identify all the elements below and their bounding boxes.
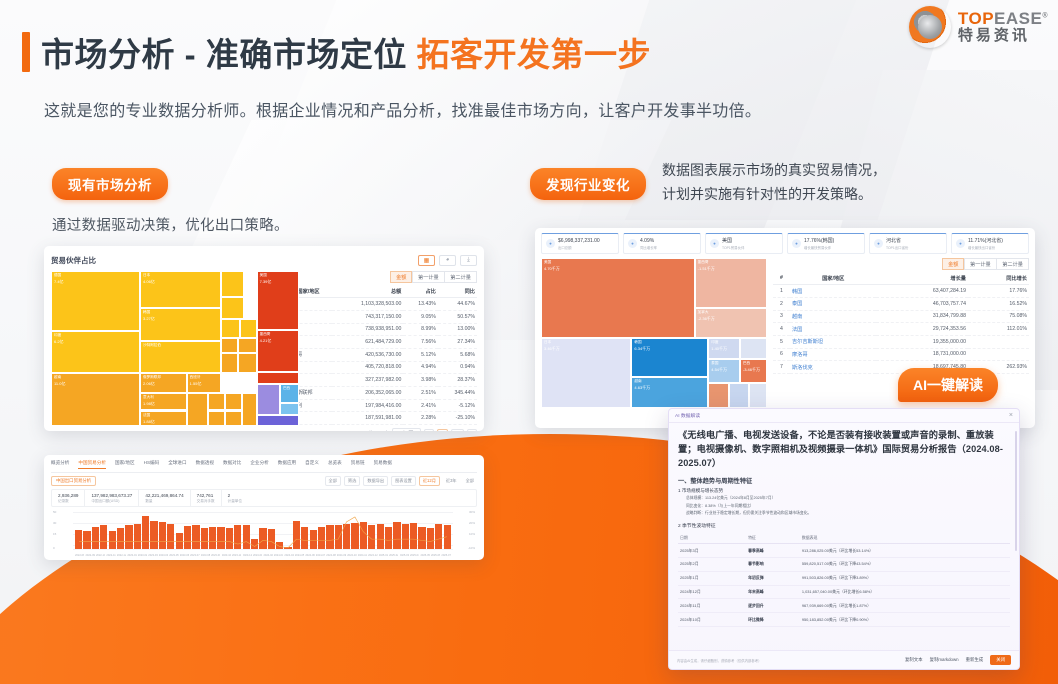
treemap-cell-label: 越南 [634,379,641,384]
treemap-cell-value: 7.4亿 [54,279,64,285]
treemap-cell[interactable] [238,353,257,373]
row-total: 738,938,951.00 [332,323,403,336]
row-yoy: -25.10% [438,412,477,425]
report-section-1: 一、整体趋势与周期性特征 [678,476,1010,485]
panel-b-tab[interactable]: 数据应用 [278,460,296,469]
measure-tab[interactable]: 第二计量 [996,258,1029,270]
report-bullet: 同比变化：8.38%（与上一年同期相比） [678,504,1010,510]
pill-industry-change: 发现行业变化 [530,168,646,200]
dialog-titlebar: AI 数据解读 × [669,409,1019,423]
row-index: 4 [773,323,790,336]
row-performance: 913,286,025.00美元（环比增长53.14%） [800,544,1010,558]
treemap-cell[interactable]: 日本4.06亿 [140,271,221,308]
x-tick-label: 2024-09 [337,554,346,557]
x-tick-label: 2023-09 [211,554,220,557]
report-subsection-1: 1 市场规模与增长态势 [678,488,1010,494]
row-index: 1 [773,285,790,298]
treemap-cell[interactable] [225,411,242,427]
treemap-cell[interactable] [740,338,767,359]
dialog-button[interactable]: 复制markdown [930,657,959,663]
panel-b-tab[interactable]: 全球进口 [168,460,186,469]
topease-ring-logo-icon [909,6,951,48]
x-tick-label: 2024-11 [358,554,367,557]
panel-c-measure-tabs[interactable]: 金额第一计量第二计量 [773,258,1029,270]
row-yoy: 13.00% [438,323,477,336]
headline-main: 市场分析 - 准确市场定位 [41,36,417,73]
treemap-cell[interactable]: 墨西哥-1.51千万 [695,258,767,308]
logo-registered: ® [1042,13,1048,20]
x-tick-label: 2023-06 [180,554,189,557]
table-row[interactable]: 5墨西哥420,536,730.005.12%5.68% [269,348,477,361]
x-tick-label: 2023-05 [169,554,178,557]
row-performance: 950,183,852.00美元（环比下降0.90%） [800,613,1010,627]
panel-b-tab[interactable]: 中国贸易分析 [78,460,106,469]
treemap-cell-label: 越南 [54,375,61,380]
panel-b-tab[interactable]: 贸易链 [351,460,365,469]
treemap-cell-value: 1.98亿 [143,401,155,407]
row-growth: 29,724,353.56 [876,323,968,336]
row-country[interactable]: 泰国 [790,297,877,310]
report-bullet: 战略判断：行业处于稳定增长期，但仍需关注季节性波动和区域市场变化。 [678,511,1010,517]
row-share: 7.56% [403,336,438,349]
row-index: 3 [773,310,790,323]
page-number[interactable]: 1 [437,429,448,431]
right-caption-desc: 数据图表展示市场的真实贸易情况， 计划并实施有针对性的开发策略。 [662,158,886,206]
x-tick-label: 2025-06 [431,554,440,557]
x-tick-label: 2024-10 [347,554,356,557]
title-accent-bar [22,32,30,72]
row-share: 3.98% [403,374,438,387]
headline-text: 市场分析 - 准确市场定位 拓客开发第一步 [41,28,651,76]
row-date: 2025年1月 [678,571,746,585]
page-size-select[interactable]: 10条/页 ▾ [392,428,421,431]
chart-icon: ● [956,239,965,248]
row-feature: 环比微降 [746,613,800,627]
row-total: 743,317,150.00 [332,310,403,323]
close-icon[interactable]: × [1009,412,1013,419]
treemap-cell[interactable] [257,415,299,426]
stat-card[interactable]: ●河北省TOP1出口省份 [869,233,947,254]
panel-b-tab[interactable]: 企业分析 [250,460,268,469]
treemap-cell[interactable]: 意大利1.98亿 [140,393,187,410]
row-index: 7 [773,361,790,374]
treemap-cell[interactable] [242,393,257,426]
treemap-cell[interactable]: 沙特阿拉伯 [140,341,221,374]
report-bullets: 总体规模：113.24亿美元（2024年8月至2025年7月）同比变化：8.38… [678,496,1010,517]
china-trade-analysis-panel[interactable]: 概览分析中国贸易分析国家/地区HS编码全球进口数据透视数据对比企业分析数据应用自… [44,455,484,560]
treemap-cell[interactable]: 俄罗斯联邦2.06亿 [140,373,187,393]
treemap-cell-label: 美国 [544,260,551,265]
x-tick-label: 2024-03 [274,554,283,557]
toolbar-action[interactable]: 全部 [463,477,477,485]
left-caption-desc: 通过数据驱动决策，优化出口策略。 [52,214,289,235]
row-feature: 年初反弹 [746,571,800,585]
table-row[interactable]: 5吉尔吉斯斯坦19,355,000.00 [773,335,1029,348]
treemap-cell[interactable] [187,393,208,426]
column-header: 同比增长 [968,272,1029,285]
growth-table: #国家/地区增长量同比增长 1韩国63,407,284.1917.76%2泰国4… [773,272,1029,374]
next-page-button[interactable]: › [467,429,477,431]
stat-card-text: 4.09%同比增长率 [640,238,657,250]
toolbar-action[interactable]: 筛选 [344,476,360,486]
report-section-2: 2 季节性波动特征 [678,522,1010,529]
treemap-cell-value: 4.70千万 [544,266,560,272]
x-tick-label: 2025-01 [379,554,388,557]
table-row: 2024年10月环比微降950,183,852.00美元（环比下降0.90%） [678,613,1010,627]
stat-value: 137,982,983,673.27 [91,493,132,498]
treemap-cell[interactable] [221,338,238,354]
table-row: 2025年3月春季高峰913,286,025.00美元（环比增长53.14%） [678,544,1010,558]
ai-data-interpretation-dialog[interactable]: AI 数据解读 × 《无线电广播、电视发送设备，不论是否装有接收装置或声音的录制… [668,408,1020,670]
row-total: 187,591,981.00 [332,412,403,425]
table-pagination[interactable]: 共 213 条10条/页 ▾‹122› [269,428,477,431]
treemap-cell[interactable]: 法国1.88亿 [140,411,187,427]
row-index: 2 [773,297,790,310]
stat-card[interactable]: ●11.71%(河北省)增长最快出口省份 [951,233,1029,254]
panel-b-tabs[interactable]: 概览分析中国贸易分析国家/地区HS编码全球进口数据透视数据对比企业分析数据应用自… [51,460,477,473]
chart-line-overlay [75,512,451,549]
row-yoy: 345.44% [438,387,477,400]
treemap-cell[interactable] [221,353,238,373]
row-country[interactable]: 摩洛哥 [790,348,877,361]
stat-card-value: 4.09% [640,238,657,244]
treemap-cell[interactable] [240,319,257,338]
row-total: 405,720,818.00 [332,361,403,374]
row-performance: 1,031,657,040.00美元（环比增长6.58%） [800,585,1010,599]
treemap-cell[interactable]: 印度1.40千万 [708,338,740,359]
treemap-cell-value: 3.46千万 [544,346,560,352]
treemap-cell[interactable]: 巴西 [280,384,299,403]
treemap-cell[interactable] [225,393,242,410]
x-tick-label: 2024-06 [305,554,314,557]
treemap-cell[interactable]: 越南4.63千万 [631,377,708,409]
stat-card-label: TOP1贸易伙伴 [722,245,744,250]
panel-b-tab[interactable]: 概览分析 [51,460,69,469]
column-header: 日期 [678,532,746,544]
stat-label: 记录数 [58,499,78,504]
row-growth: 46,703,757.74 [876,297,968,310]
treemap-cell-value: 4.63千万 [634,385,650,391]
row-yoy: 5.68% [438,348,477,361]
treemap-cell[interactable]: 德国7.4亿 [51,271,140,331]
table-row[interactable]: 8俄罗斯联邦206,352,065.002.51%345.44% [269,387,477,400]
dialog-button[interactable]: 重新生成 [966,657,984,663]
stat-label: 数量 [145,499,183,504]
x-tick-label: 2023-01 [127,554,136,557]
treemap-cell-value: 1.88亿 [143,419,155,425]
trade-partner-table: #国家/地区总额占比同比 1德国1,103,328,503.0013.43%44… [269,285,477,425]
panel-b-tab[interactable]: 贸易数据 [374,460,392,469]
left-caption-block: 现有市场分析 通过数据驱动决策，优化出口策略。 [52,168,289,235]
table-row[interactable]: 2泰国46,703,757.7416.52% [773,297,1029,310]
treemap-cell[interactable]: 加拿大-2.36千万 [695,308,767,338]
table-row: 2024年11月逐步回升967,939,669.00美元（环比增长1.87%） [678,599,1010,613]
report-heading: 《无线电广播、电视发送设备，不论是否装有接收装置或声音的录制、重放装置；电视摄像… [678,429,1010,471]
row-total: 621,484,729.00 [332,336,403,349]
row-performance: 991,503,826.00美元（环比下降3.89%） [800,571,1010,585]
stat-item: 137,982,983,673.27中国出口额(USD) [85,490,139,506]
stat-item: 42,221,469,864.74数量 [139,490,190,506]
row-yoy [968,348,1029,361]
row-share: 2.51% [403,387,438,400]
x-tick-label: 2023-04 [159,554,168,557]
treemap-cell[interactable] [749,383,767,409]
stat-card-value: 17.76%(韩国) [804,237,834,244]
row-share: 2.41% [403,399,438,412]
toolbar-action[interactable]: 全部 [325,476,341,486]
table-row[interactable]: 6日本405,720,818.004.94%0.94% [269,361,477,374]
row-share: 5.12% [403,348,438,361]
treemap-cell-label: 印度 [54,333,61,338]
row-growth: 63,407,284.19 [876,285,968,298]
treemap-cell-value: 7.39亿 [260,279,272,285]
headline-accent: 拓客开发第一步 [417,36,652,73]
row-country[interactable]: 韩国 [790,285,877,298]
treemap-cell[interactable]: 韩国3.27亿 [140,308,221,341]
treemap-growth[interactable]: 美国4.70千万墨西哥-1.51千万加拿大-2.36千万日本3.46千万韩国6.… [541,258,767,408]
trade-partner-share-panel[interactable]: 贸易伙伴占比 ▦ ◕ ⤓ 德国7.4亿印度6.2亿越南11.0亿日本4.06亿韩… [44,246,484,431]
seasonality-table: 日期特征数据表现 2025年3月春季高峰913,286,025.00美元（环比增… [678,532,1010,627]
x-tick-label: 2024-05 [295,554,304,557]
treemap-cell[interactable] [221,271,244,297]
x-tick-label: 2022-10 [96,554,105,557]
stat-card[interactable]: ●美国TOP1贸易伙伴 [705,233,783,254]
ai-interpret-badge[interactable]: AI一键解读 [898,368,998,402]
measure-tab[interactable]: 第一计量 [412,271,445,283]
row-performance: 559,820,517.00美元（环比下降43.54%） [800,557,1010,571]
stat-card-text: $6,998,337,231.00出口总额 [558,238,600,250]
panel-b-tab[interactable]: 数据对比 [223,460,241,469]
ai-disclaimer: 内容由AI生成，请仔细甄别，谨慎参考（仅供内部参考） [677,658,762,663]
panel-b-tab[interactable]: 数据透视 [196,460,214,469]
treemap-cell-value: -3.46千万 [743,367,760,373]
table-row[interactable]: 3越南31,834,799.8875.08% [773,310,1029,323]
table-row[interactable]: 7韩国327,237,982.003.98%28.37% [269,374,477,387]
table-header-row: #国家/地区总额占比同比 [269,285,477,298]
column-header: 同比 [438,285,477,298]
stat-card-text: 河北省TOP1出口省份 [886,237,908,250]
treemap-cell[interactable]: 美国7.39亿 [257,271,299,330]
stat-label: 中国出口额(USD) [91,499,132,504]
row-yoy: 44.67% [438,298,477,311]
x-tick-label: 2024-12 [368,554,377,557]
stat-item: 742,761交易对手数 [191,490,222,506]
row-feature: 春季高峰 [746,544,800,558]
treemap-cell-label: 意大利 [143,395,154,400]
panel-a-header: 贸易伙伴占比 ▦ ◕ ⤓ [51,252,477,268]
row-country[interactable]: 吉尔吉斯斯坦 [790,335,877,348]
treemap-cell[interactable]: 日本3.46千万 [541,338,631,409]
x-tick-label: 2023-12 [243,554,252,557]
toolbar-action[interactable]: 近3年 [443,477,460,485]
table-row[interactable]: 10法国187,591,981.002.28%-25.10% [269,412,477,425]
measure-tab[interactable]: 第二计量 [444,271,477,283]
row-share: 13.43% [403,298,438,311]
treemap-cell[interactable] [729,383,749,409]
row-feature: 逐步回升 [746,599,800,613]
x-tick-label: 2023-07 [190,554,199,557]
table-row: 2025年1月年初反弹991,503,826.00美元（环比下降3.89%） [678,571,1010,585]
row-index: 6 [773,348,790,361]
dialog-title: AI 数据解读 [675,412,700,419]
treemap-cell[interactable]: 越南11.0亿 [51,373,140,426]
table-row[interactable]: 4印度621,484,729.007.56%27.34% [269,336,477,349]
download-icon[interactable]: ⤓ [460,255,477,266]
row-date: 2024年11月 [678,599,746,613]
row-yoy: 17.76% [968,285,1029,298]
row-total: 206,352,065.00 [332,387,403,400]
row-date: 2024年12月 [678,585,746,599]
row-date: 2024年10月 [678,613,746,627]
list-icon: ● [710,239,719,248]
column-header: 特征 [746,532,800,544]
row-total: 197,984,416.00 [332,399,403,412]
column-header: # [773,272,790,285]
table-row[interactable]: 4法国29,724,353.56112.01% [773,323,1029,336]
last-page[interactable]: 22 [451,429,465,431]
monthly-trend-chart[interactable]: 5030 150 30%20% 10%-10% 2022-082022-0920… [51,510,477,557]
column-header: 国家/地区 [790,272,877,285]
x-tick-label: 2024-01 [253,554,262,557]
stat-item: 2,936,289记录数 [52,490,85,506]
x-tick-label: 2025-02 [389,554,398,557]
treemap-cell[interactable] [708,383,728,409]
stat-card-label: 增长最快贸易伙伴 [804,245,834,250]
panel-b-tab[interactable]: 国家/地区 [115,460,135,469]
panel-b-tab[interactable]: HS编码 [144,460,160,469]
dialog-buttons[interactable]: 复制文本复制markdown重新生成关闭 [905,655,1011,665]
dialog-scrollbar[interactable] [1015,431,1017,551]
stat-card-label: 增长最快出口省份 [968,245,1003,250]
panel-b-tab[interactable]: 自定义 [305,460,319,469]
dialog-body: 《无线电广播、电视发送设备，不论是否装有接收装置或声音的录制、重放装置；电视摄像… [669,423,1019,650]
treemap-cell-value: 1.55亿 [190,381,202,387]
row-feature: 年末高峰 [746,585,800,599]
stat-card-row: ●$6,998,337,231.00出口总额●4.09%同比增长率●美国TOP1… [541,233,1029,254]
row-country[interactable]: 法国 [790,323,877,336]
pager-total: 共 213 条 [368,430,389,431]
row-share: 2.28% [403,412,438,425]
measure-tab[interactable]: 金额 [390,271,412,283]
right-caption-line2: 计划并实施有针对性的开发策略。 [662,182,886,206]
grid-view-icon[interactable]: ▦ [418,255,435,266]
dialog-button[interactable]: 复制文本 [905,657,923,663]
treemap-cell[interactable]: 韩国6.34千万 [631,338,708,377]
list-icon: ● [874,239,883,248]
treemap-cell[interactable] [257,384,280,415]
measure-tab[interactable]: 金额 [942,258,964,270]
toolbar-action[interactable]: 数据导出 [363,476,388,486]
row-total: 327,237,982.00 [332,374,403,387]
stat-card[interactable]: ●4.09%同比增长率 [623,233,701,254]
measure-tab[interactable]: 第一计量 [964,258,997,270]
chart-x-labels: 2022-082022-092022-102022-112022-122023-… [75,554,451,557]
treemap-cell[interactable] [238,338,257,354]
table-row[interactable]: 6摩洛哥18,731,000.00 [773,348,1029,361]
table-row[interactable]: 9意大利197,984,416.002.41%-5.12% [269,399,477,412]
x-tick-label: 2023-11 [232,554,241,557]
treemap-cell-label: 西班牙 [190,375,201,380]
stat-label: 计量单位 [228,499,242,504]
panel-a-toolbar[interactable]: ▦ ◕ ⤓ [418,255,477,266]
x-tick-label: 2023-02 [138,554,147,557]
treemap-cell[interactable]: 墨西哥4.21亿 [257,330,299,372]
stat-item: 2计量单位 [222,490,248,506]
treemap-trade-partners[interactable]: 德国7.4亿印度6.2亿越南11.0亿日本4.06亿韩国3.27亿沙特阿拉伯俄罗… [51,271,263,426]
panel-a-measure-tabs[interactable]: 金额第一计量第二计量 [269,271,477,283]
treemap-cell-value: -1.51千万 [698,266,715,272]
row-yoy: 75.08% [968,310,1029,323]
panel-b-tab[interactable]: 总览表 [328,460,342,469]
table-row[interactable]: 1德国1,103,328,503.0013.43%44.67% [269,298,477,311]
row-growth: 19,355,000.00 [876,335,968,348]
treemap-cell[interactable] [221,319,240,338]
x-tick-label: 2023-03 [148,554,157,557]
treemap-cell[interactable] [221,297,244,319]
treemap-cell[interactable] [208,411,225,427]
row-country[interactable]: 斯洛伐克 [790,361,877,374]
stat-card-label: TOP1出口省份 [886,245,908,250]
toolbar-action[interactable]: 图表设置 [391,476,416,486]
table-row[interactable]: 1韩国63,407,284.1917.76% [773,285,1029,298]
treemap-cell[interactable]: 巴西-3.46千万 [740,359,767,383]
row-yoy: 112.01% [968,323,1029,336]
row-country[interactable]: 越南 [790,310,877,323]
treemap-cell[interactable] [280,403,299,415]
treemap-cell[interactable]: 印度6.2亿 [51,331,140,373]
treemap-cell-label: 泰国 [711,361,718,366]
row-growth: 18,731,000.00 [876,348,968,361]
dollar-icon: ● [546,239,555,248]
stat-card-label: 同比增长率 [640,245,657,250]
table-row[interactable]: 3美国738,938,951.008.99%13.00% [269,323,477,336]
row-yoy: 28.37% [438,374,477,387]
row-yoy: -5.12% [438,399,477,412]
dialog-button[interactable]: 关闭 [990,655,1011,665]
table-row: 2024年12月年末高峰1,031,657,040.00美元（环比增长6.58%… [678,585,1010,599]
treemap-cell[interactable] [257,372,299,384]
treemap-cell-value: 3.27亿 [143,316,155,322]
treemap-cell[interactable]: 西班牙1.55亿 [187,373,221,393]
stat-card[interactable]: ●17.76%(韩国)增长最快贸易伙伴 [787,233,865,254]
pie-view-icon[interactable]: ◕ [439,255,456,266]
stat-label: 交易对手数 [197,499,215,504]
row-share: 9.05% [403,310,438,323]
panel-b-actions[interactable]: 全部筛选数据导出图表设置近12月近3年全部 [325,476,477,486]
treemap-cell-label: 韩国 [634,340,641,345]
stat-card-value: 11.71%(河北省) [968,237,1003,244]
treemap-cell[interactable]: 泰国4.54千万 [708,359,740,383]
x-tick-label: 2024-08 [326,554,335,557]
table-row[interactable]: 2越南743,317,150.009.05%50.57% [269,310,477,323]
chart-icon: ● [792,239,801,248]
stat-card[interactable]: ●$6,998,337,231.00出口总额 [541,233,619,254]
treemap-cell[interactable] [208,393,225,410]
panel-b-chip[interactable]: 中国出口贸易分析 [51,476,96,486]
panel-b-subbar: 中国出口贸易分析 全部筛选数据导出图表设置近12月近3年全部 [51,476,477,486]
table-body: 1韩国63,407,284.1917.76%2泰国46,703,757.7416… [773,285,1029,374]
logo-ease: EASE [994,9,1042,28]
x-tick-label: 2022-11 [106,554,115,557]
pill-existing-market-analysis: 现有市场分析 [52,168,168,200]
toolbar-action[interactable]: 近12月 [419,476,440,486]
x-tick-label: 2024-04 [284,554,293,557]
x-tick-label: 2023-10 [222,554,231,557]
treemap-cell-label: 美国 [260,273,267,278]
treemap-cell-label: 德国 [54,273,61,278]
prev-page-button[interactable]: ‹ [424,429,434,431]
treemap-cell[interactable]: 美国4.70千万 [541,258,695,338]
